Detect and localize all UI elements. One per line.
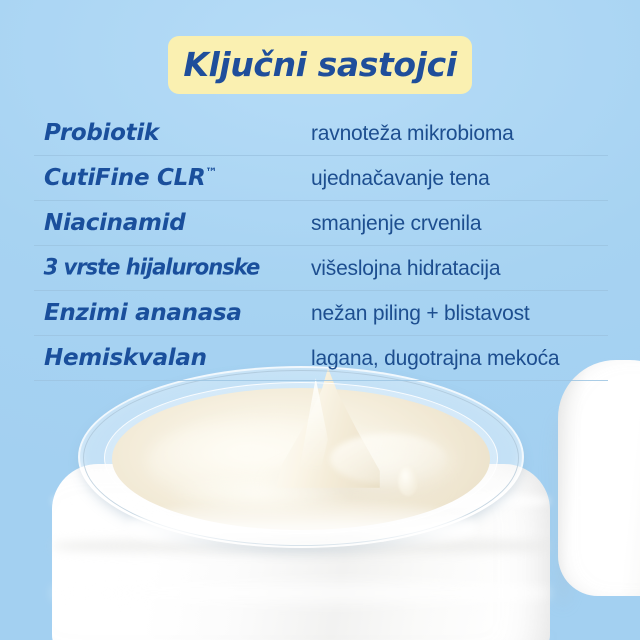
table-row: CutiFine CLR™ ujednačavanje tena [34,156,608,201]
table-row: Probiotik ravnoteža mikrobioma [34,111,608,156]
ingredient-benefit: višeslojna hidratacija [311,258,608,279]
ingredient-name: CutiFine CLR™ [34,167,311,190]
ingredient-name-text: Niacinamid [44,210,185,236]
table-row: 3 vrste hijaluronske višeslojna hidratac… [34,246,608,291]
ingredient-benefit: nežan piling + blistavost [311,303,608,324]
table-row: Enzimi ananasa nežan piling + blistavost [34,291,608,336]
product-photo [0,360,640,640]
ingredient-name-text: CutiFine CLR [44,165,205,191]
jar-lid [558,360,640,596]
ingredient-name: Hemiskvalan [34,347,311,370]
ingredients-table: Probiotik ravnoteža mikrobioma CutiFine … [34,111,608,381]
ingredient-benefit: smanjenje crvenila [311,213,608,234]
ingredient-name: Niacinamid [34,212,311,235]
table-row: Niacinamid smanjenje crvenila [34,201,608,246]
cream-droplet [398,466,418,496]
ingredient-benefit: ujednačavanje tena [311,168,608,189]
ingredient-name: 3 vrste hijaluronske [34,257,300,279]
page-title: Ključni sastojci [183,48,456,81]
ingredient-name: Enzimi ananasa [34,302,311,325]
ingredient-name-text: 3 vrste hijaluronske [44,255,260,280]
ingredient-name-text: Hemiskvalan [44,345,207,371]
ingredient-name-text: Enzimi ananasa [44,300,242,326]
ingredients-poster: Ključni sastojci Probiotik ravnoteža mik… [0,0,640,640]
ingredient-name: Probiotik [34,122,311,145]
trademark-symbol: ™ [205,165,217,179]
ingredient-name-text: Probiotik [44,120,159,146]
title-banner: Ključni sastojci [168,36,472,94]
cream-fold [330,434,446,484]
table-row: Hemiskvalan lagana, dugotrajna mekoća [34,336,608,381]
ingredient-benefit: lagana, dugotrajna mekoća [311,348,608,369]
ingredient-benefit: ravnoteža mikrobioma [311,123,608,144]
